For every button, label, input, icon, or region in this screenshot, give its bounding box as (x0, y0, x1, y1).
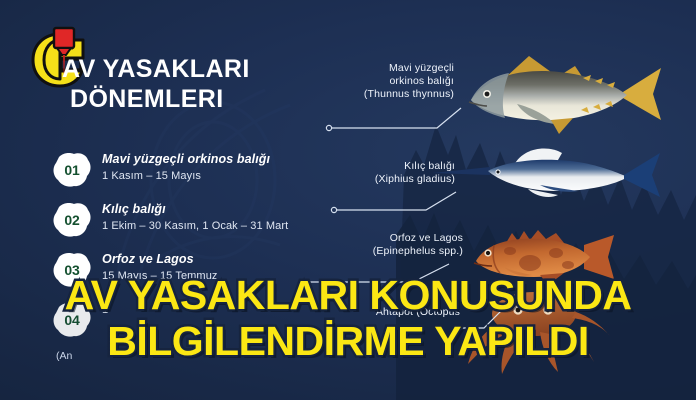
grouper-illustration (468, 225, 616, 289)
callout-octopus: Ahtapot (Octopus (330, 306, 460, 319)
callout-latin-name: (Xiphius gladius) (345, 173, 455, 186)
list-item: 02 Kılıç balığı 1 Ekim – 30 Kasım, 1 Oca… (52, 200, 382, 242)
bluefin-tuna-illustration (455, 48, 670, 140)
callout-latin-name: (Epinephelus spp.) (335, 245, 463, 258)
ban-period-list: 01 Mavi yüzgeçli orkinos balığı 1 Kasım … (52, 150, 382, 350)
item-name: Mavi yüzgeçli orkinos balığı (102, 151, 382, 167)
callout-grouper: Orfoz ve Lagos (Epinephelus spp.) (335, 232, 463, 258)
octopus-illustration (462, 292, 612, 378)
badge-number: 03 (52, 252, 92, 288)
item-name: Kılıç balığı (102, 201, 382, 217)
item-dates: 15 Mayıs – 15 Temmuz (102, 268, 382, 284)
callout-name-line1: Orfoz ve Lagos (335, 232, 463, 245)
title-line-1: AV YASAKLARI (62, 54, 362, 84)
badge-number: 02 (52, 202, 92, 238)
list-item: 03 Orfoz ve Lagos 15 Mayıs – 15 Temmuz (52, 250, 382, 292)
callout-name-line1: Kılıç balığı (345, 160, 455, 173)
callout-name-line1: Ahtapot (Octopus (330, 306, 460, 319)
number-badge: 02 (52, 202, 92, 238)
number-badge: 01 (52, 152, 92, 188)
title-line-2: DÖNEMLERI (70, 84, 362, 114)
callout-name-line2: orkinos balığı (330, 75, 454, 88)
callout-bluefin-tuna: Mavi yüzgeçli orkinos balığı (Thunnus th… (330, 62, 454, 101)
number-badge: 04 (52, 302, 92, 338)
badge-number: 04 (52, 302, 92, 338)
callout-swordfish: Kılıç balığı (Xiphius gladius) (345, 160, 455, 186)
infographic-banner: AV YASAKLARI DÖNEMLERI 01 Mavi yüzgeçli … (0, 0, 696, 400)
swordfish-illustration (432, 145, 664, 205)
badge-number: 01 (52, 152, 92, 188)
page-title: AV YASAKLARI DÖNEMLERI (62, 54, 362, 114)
callout-latin-name: (Thunnus thynnus) (330, 88, 454, 101)
occluded-text-bottom-left: (An (56, 350, 72, 363)
callout-name-line1: Mavi yüzgeçli (330, 62, 454, 75)
list-item: 01 Mavi yüzgeçli orkinos balığı 1 Kasım … (52, 150, 382, 192)
item-dates: 1 Kasım – 15 Mayıs (102, 168, 382, 184)
number-badge: 03 (52, 252, 92, 288)
